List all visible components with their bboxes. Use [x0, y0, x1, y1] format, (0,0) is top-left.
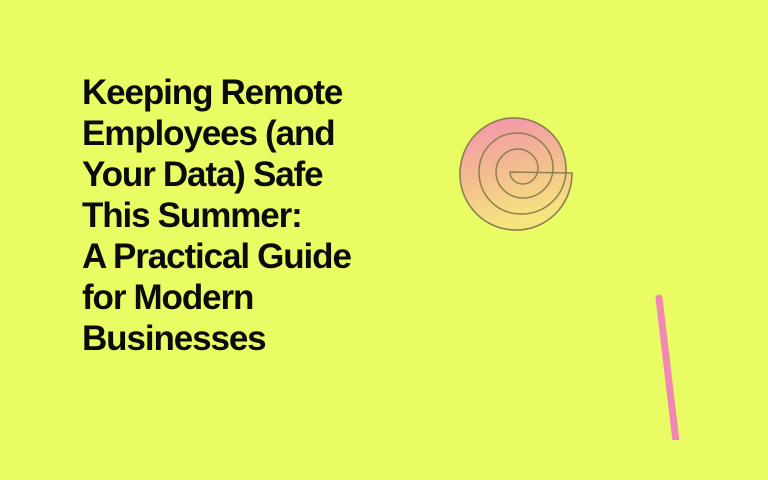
page-title: Keeping Remote Employees (and Your Data)… [82, 72, 382, 359]
article-hero-banner: Keeping Remote Employees (and Your Data)… [0, 0, 768, 480]
spiral-sun-icon [460, 118, 572, 230]
remote-worker-illustration [360, 40, 760, 440]
laptop-icon [659, 298, 760, 440]
person-figure [724, 118, 760, 440]
